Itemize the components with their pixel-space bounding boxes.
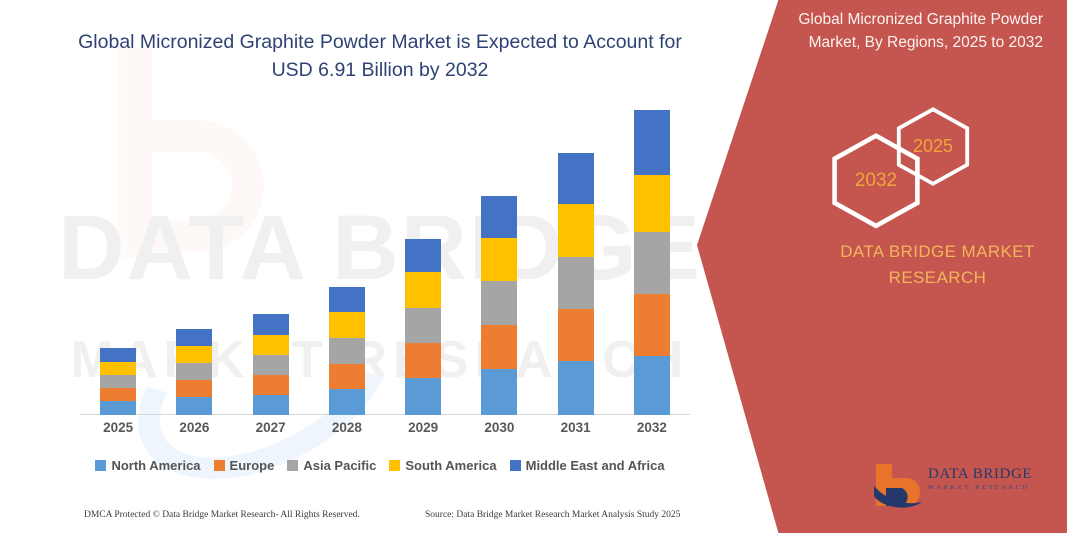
bar-segment	[634, 232, 670, 294]
bar-segment	[100, 401, 136, 415]
bar-segment	[634, 356, 670, 415]
bar-segment	[176, 363, 212, 380]
bar-2028	[329, 287, 365, 415]
legend-label: Europe	[230, 458, 275, 473]
x-label-2027: 2027	[236, 420, 306, 435]
legend-item[interactable]: North America	[95, 458, 200, 473]
bar-2032	[634, 110, 670, 415]
bar-segment	[176, 380, 212, 397]
x-label-2026: 2026	[159, 420, 229, 435]
bar-segment	[329, 312, 365, 338]
bar-2031	[558, 153, 594, 415]
legend-swatch-icon	[287, 460, 298, 471]
bar-segment	[253, 395, 289, 415]
bar-segment	[100, 375, 136, 388]
legend-item[interactable]: South America	[389, 458, 496, 473]
legend-label: South America	[405, 458, 496, 473]
bar-2030	[481, 196, 517, 415]
footer: DMCA Protected © Data Bridge Market Rese…	[0, 505, 760, 531]
bar-2025	[100, 348, 136, 415]
legend-item[interactable]: Asia Pacific	[287, 458, 376, 473]
legend-label: Asia Pacific	[303, 458, 376, 473]
bar-2027	[253, 314, 289, 415]
chart-legend: North AmericaEuropeAsia PacificSouth Ame…	[80, 455, 680, 475]
stacked-bar-plot	[80, 110, 690, 415]
legend-swatch-icon	[510, 460, 521, 471]
bar-segment	[405, 239, 441, 273]
infographic-canvas: DATA BRIDGE MARKET RESEARCH Global Micro…	[0, 0, 1067, 533]
bar-segment	[558, 361, 594, 415]
bar-segment	[253, 314, 289, 335]
bar-segment	[329, 389, 365, 415]
bar-segment	[405, 308, 441, 343]
x-axis-labels: 20252026202720282029203020312032	[80, 420, 690, 444]
bar-segment	[558, 257, 594, 309]
x-label-2025: 2025	[83, 420, 153, 435]
bar-segment	[481, 325, 517, 369]
bar-segment	[253, 375, 289, 395]
bar-segment	[329, 287, 365, 312]
legend-label: Middle East and Africa	[526, 458, 665, 473]
footer-source: Source: Data Bridge Market Research Mark…	[425, 510, 680, 520]
bar-segment	[329, 364, 365, 390]
bar-segment	[100, 348, 136, 361]
bar-segment	[176, 346, 212, 363]
bar-segment	[481, 281, 517, 325]
bar-segment	[481, 238, 517, 281]
bar-segment	[176, 397, 212, 415]
legend-swatch-icon	[214, 460, 225, 471]
bar-segment	[405, 272, 441, 307]
bar-segment	[558, 204, 594, 256]
chart-panel: DATA BRIDGE MARKET RESEARCH Global Micro…	[0, 0, 760, 533]
bar-segment	[558, 309, 594, 361]
x-axis-line	[80, 414, 690, 415]
bar-segment	[405, 378, 441, 415]
bar-segment	[634, 294, 670, 356]
bar-segment	[253, 335, 289, 356]
bar-segment	[481, 196, 517, 238]
x-label-2031: 2031	[541, 420, 611, 435]
legend-item[interactable]: Europe	[214, 458, 275, 473]
bar-segment	[100, 388, 136, 401]
bar-segment	[634, 175, 670, 231]
bar-segment	[481, 369, 517, 415]
legend-swatch-icon	[389, 460, 400, 471]
legend-swatch-icon	[95, 460, 106, 471]
legend-item[interactable]: Middle East and Africa	[510, 458, 665, 473]
bar-segment	[176, 329, 212, 346]
bar-2026	[176, 329, 212, 415]
legend-label: North America	[111, 458, 200, 473]
x-label-2028: 2028	[312, 420, 382, 435]
bar-segment	[558, 153, 594, 204]
bar-segment	[405, 343, 441, 378]
bar-2029	[405, 239, 441, 416]
bar-segment	[329, 338, 365, 364]
bar-segment	[100, 362, 136, 375]
x-label-2029: 2029	[388, 420, 458, 435]
footer-copyright: DMCA Protected © Data Bridge Market Rese…	[84, 510, 360, 520]
chart-title: Global Micronized Graphite Powder Market…	[70, 28, 690, 84]
x-label-2032: 2032	[617, 420, 687, 435]
bar-segment	[634, 110, 670, 175]
x-label-2030: 2030	[464, 420, 534, 435]
bar-segment	[253, 355, 289, 375]
